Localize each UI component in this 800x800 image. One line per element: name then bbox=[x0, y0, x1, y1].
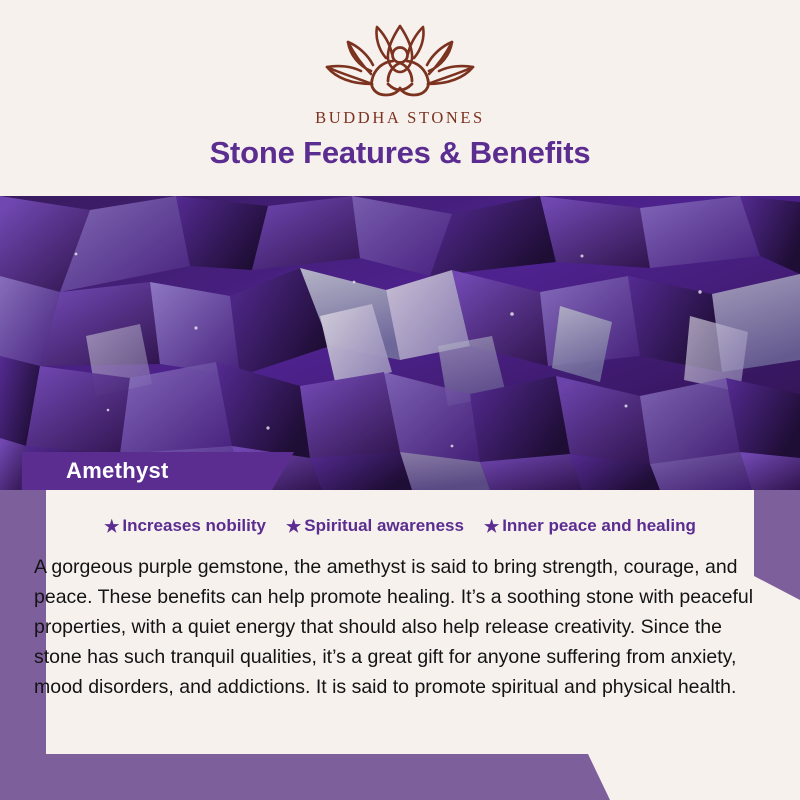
brand-logo: BUDDHA STONES bbox=[312, 22, 488, 128]
product-info-card: BUDDHA STONES Stone Features & Benefits bbox=[0, 0, 800, 800]
benefit-item: ★ Increases nobility bbox=[104, 516, 266, 536]
amethyst-crystal-cluster-photo bbox=[0, 196, 800, 490]
benefit-label: Spiritual awareness bbox=[304, 516, 464, 536]
star-icon: ★ bbox=[104, 518, 119, 535]
star-icon: ★ bbox=[286, 518, 301, 535]
card-header: BUDDHA STONES Stone Features & Benefits bbox=[0, 0, 800, 196]
benefit-label: Inner peace and healing bbox=[502, 516, 696, 536]
stone-name-banner: Amethyst bbox=[22, 452, 294, 490]
description-text: A gorgeous purple gemstone, the amethyst… bbox=[34, 552, 770, 702]
frame-bottom-bar bbox=[0, 754, 800, 800]
star-icon: ★ bbox=[484, 518, 499, 535]
benefits-list: ★ Increases nobility ★ Spiritual awarene… bbox=[46, 505, 754, 547]
hero-image bbox=[0, 196, 800, 490]
benefit-label: Increases nobility bbox=[122, 516, 266, 536]
benefit-item: ★ Inner peace and healing bbox=[484, 516, 696, 536]
page-title: Stone Features & Benefits bbox=[210, 135, 591, 171]
lotus-meditation-figure-logo bbox=[312, 22, 488, 104]
benefit-item: ★ Spiritual awareness bbox=[286, 516, 464, 536]
brand-name: BUDDHA STONES bbox=[315, 108, 485, 128]
stone-name-label: Amethyst bbox=[66, 458, 169, 484]
description-block: A gorgeous purple gemstone, the amethyst… bbox=[34, 552, 770, 702]
